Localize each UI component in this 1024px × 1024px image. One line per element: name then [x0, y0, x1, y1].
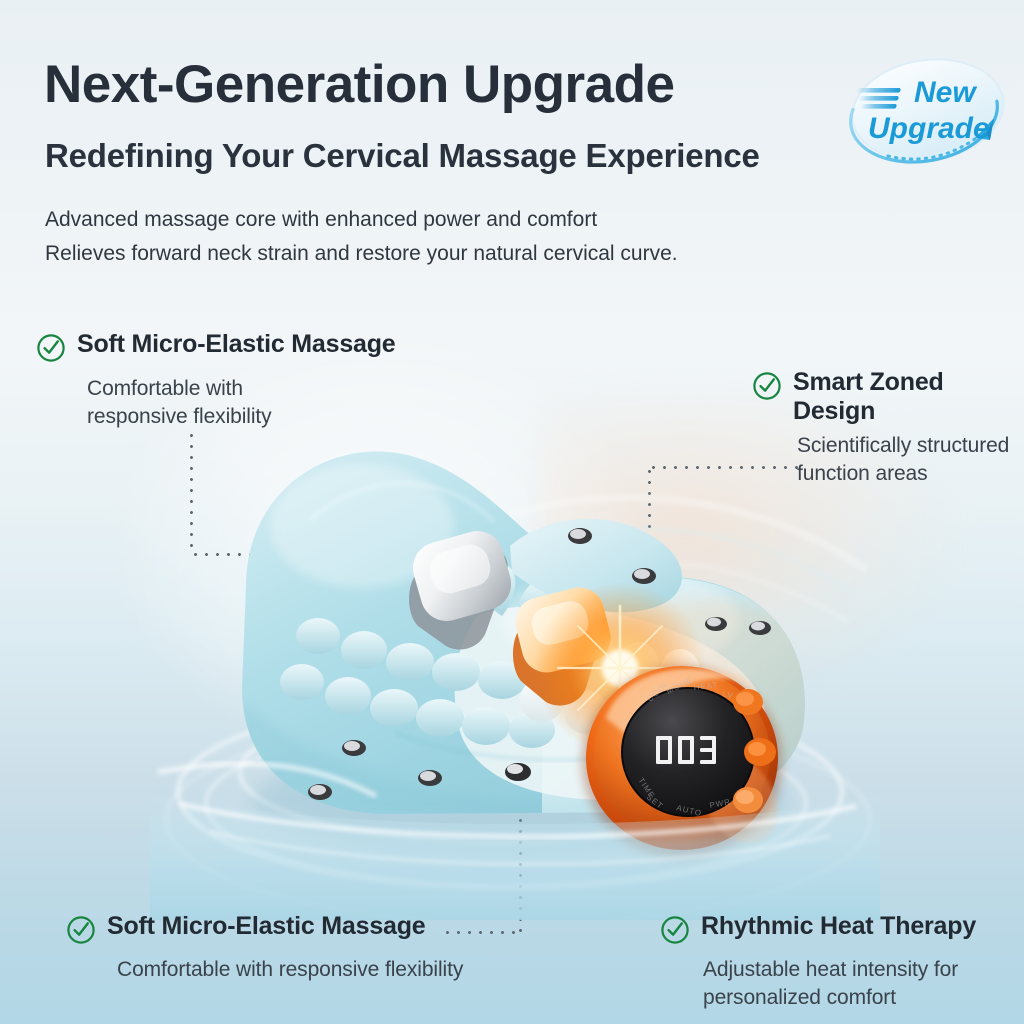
callout-smart-zoned-design: Smart Zoned Design Scientifically struct…: [752, 368, 1020, 487]
check-circle-icon: [752, 371, 782, 406]
check-circle-icon: [660, 915, 690, 950]
new-upgrade-badge: New Upgrade: [844, 52, 1016, 174]
callout-subtitle-line-2: function areas: [797, 460, 1020, 488]
callout-soft-micro-elastic-massage-bottom: Soft Micro-Elastic Massage Comfortable w…: [66, 912, 463, 984]
callout-title: Soft Micro-Elastic Massage: [107, 912, 426, 941]
callout-title: Soft Micro-Elastic Massage: [77, 330, 396, 359]
callout-subtitle: Scientifically structured function areas: [797, 432, 1020, 487]
speed-lines-icon: [856, 88, 901, 109]
callout-subtitle: Adjustable heat intensity for personaliz…: [703, 956, 976, 1011]
callout-subtitle-line-2: personalized comfort: [703, 984, 976, 1012]
callout-title: Smart Zoned Design: [793, 368, 944, 425]
callout-subtitle: Comfortable with responsive flexibility: [117, 956, 463, 984]
callout-title-line-1: Smart Zoned: [793, 368, 944, 396]
description-line-2: Relieves forward neck strain and restore…: [45, 237, 678, 271]
callout-subtitle-line-1: Adjustable heat intensity for: [703, 956, 976, 984]
page-title: Next-Generation Upgrade: [44, 57, 675, 113]
badge-line-2: Upgrade: [868, 112, 990, 145]
infographic-canvas: Next-Generation Upgrade Redefining Your …: [0, 0, 1024, 1024]
callout-subtitle: Comfortable with responsive flexibility: [87, 375, 396, 430]
callout-subtitle-line-1: Scientifically structured: [797, 432, 1020, 460]
description-line-1: Advanced massage core with enhanced powe…: [45, 203, 678, 237]
callout-title: Rhythmic Heat Therapy: [701, 912, 976, 941]
callout-subtitle-line-1: Comfortable with: [87, 375, 396, 403]
check-circle-icon: [66, 915, 96, 950]
callout-rhythmic-heat-therapy: Rhythmic Heat Therapy Adjustable heat in…: [660, 912, 976, 1011]
page-subtitle: Redefining Your Cervical Massage Experie…: [45, 137, 760, 175]
callout-title-line-2: Design: [793, 397, 875, 425]
callout-soft-micro-elastic-massage-top: Soft Micro-Elastic Massage Comfortable w…: [36, 330, 396, 430]
page-description: Advanced massage core with enhanced powe…: [45, 203, 678, 271]
callout-subtitle-line-2: responsive flexibility: [87, 403, 396, 431]
badge-line-1: New: [914, 76, 977, 109]
check-circle-icon: [36, 333, 66, 368]
